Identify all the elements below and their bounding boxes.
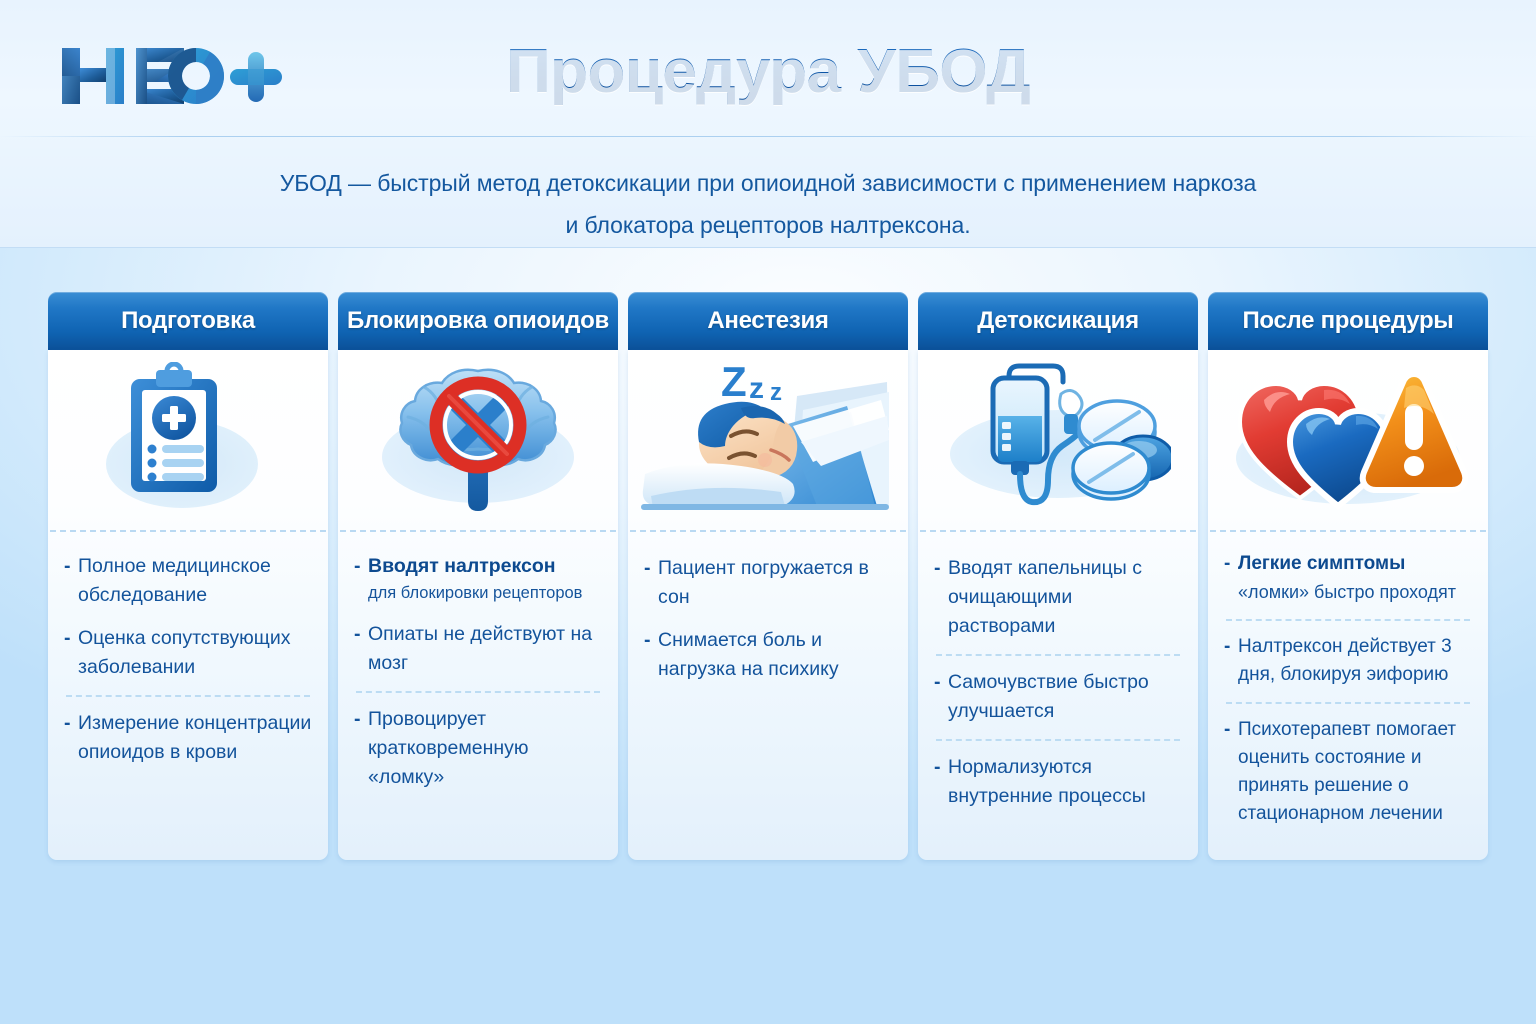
- sleeping-patient-icon: Z z z: [637, 356, 899, 524]
- bullet-item: - Легкие симптомы «ломки» быстро проходя…: [1224, 550, 1474, 606]
- page-title-text: Процедура УБОД: [506, 37, 1030, 106]
- step-card-title: После процедуры: [1242, 307, 1453, 335]
- page-title: Процедура УБОД: [0, 36, 1536, 107]
- bullet-dash: -: [64, 552, 78, 610]
- bullet-text: Психотерапевт помогает оценить состояние…: [1238, 716, 1474, 828]
- step-card-body: - Легкие симптомы «ломки» быстро проходя…: [1208, 350, 1488, 860]
- bullet-divider: [936, 739, 1180, 741]
- page-subtitle-line-2: и блокатора рецепторов налтрексона.: [0, 204, 1536, 246]
- step-card-header: Блокировка опиоидов: [338, 292, 618, 350]
- bullet-dash: -: [64, 709, 78, 767]
- bullet-item: - Пациент погружается в сон: [644, 554, 894, 612]
- bullet-divider: [356, 691, 600, 693]
- bullet-item: - Вводят капельницы с очищающими раствор…: [934, 554, 1184, 641]
- bullet-item: - Нормализуются внутренние процессы: [934, 753, 1184, 811]
- step-card-body: Z z z: [628, 350, 908, 860]
- zzz-label: Z: [721, 358, 747, 405]
- step-bullet-list: - Пациент погружается в сон - Снимается …: [628, 532, 908, 860]
- bullet-divider: [1226, 619, 1470, 621]
- svg-text:z: z: [749, 372, 764, 405]
- step-icon-area: [338, 350, 618, 530]
- bullet-dash: -: [934, 753, 948, 811]
- bullet-item: - Налтрексон действует 3 дня, блокируя э…: [1224, 633, 1474, 689]
- bullet-divider: [936, 654, 1180, 656]
- bullet-text: Снимается боль и нагрузка на психику: [658, 626, 894, 684]
- step-card-header: Анестезия: [628, 292, 908, 350]
- svg-text:z: z: [770, 379, 782, 406]
- step-card-title: Блокировка опиоидов: [347, 307, 609, 335]
- step-card-body: - Полное медицинское обследование - Оцен…: [48, 350, 328, 860]
- bullet-text: Пациент погружается в сон: [658, 554, 894, 612]
- bullet-dash: -: [934, 554, 948, 641]
- step-bullet-list: - Легкие симптомы «ломки» быстро проходя…: [1208, 532, 1488, 860]
- brain-blocked-icon: [372, 365, 584, 515]
- bullet-text: Оценка сопутствующих заболевании: [78, 624, 314, 682]
- step-icon-area: [48, 350, 328, 530]
- bullet-divider: [66, 695, 310, 697]
- bullet-item: - Психотерапевт помогает оценить состоян…: [1224, 716, 1474, 828]
- step-bullet-list: - Полное медицинское обследование - Оцен…: [48, 532, 328, 860]
- bullet-text: Полное медицинское обследование: [78, 552, 314, 610]
- bullet-text: Измерение концентрации опиоидов в крови: [78, 709, 314, 767]
- bullet-dash: -: [1224, 633, 1238, 689]
- step-card-title: Анестезия: [707, 307, 828, 335]
- bullet-text: Вводят капельницы с очищающими растворам…: [948, 554, 1184, 641]
- bullet-text: Легкие симптомы «ломки» быстро проходят: [1238, 550, 1474, 606]
- bullet-subtext: «ломки» быстро проходят: [1238, 578, 1474, 606]
- bullet-item: - Вводят налтрексон для блокировки рецеп…: [354, 552, 604, 606]
- bullet-dash: -: [934, 668, 948, 726]
- step-card-header: Детоксикация: [918, 292, 1198, 350]
- bullet-item: - Самочувствие быстро улучшается: [934, 668, 1184, 726]
- bullet-text: Провоцирует кратковременную «ломку»: [368, 705, 604, 792]
- bullet-item: - Полное медицинское обследование: [64, 552, 314, 610]
- step-card-body: - Вводят налтрексон для блокировки рецеп…: [338, 350, 618, 860]
- bullet-text: Вводят налтрексон для блокировки рецепто…: [368, 552, 604, 606]
- step-bullet-list: - Вводят налтрексон для блокировки рецеп…: [338, 532, 618, 860]
- bullet-item: - Опиаты не действуют на мозг: [354, 620, 604, 678]
- bullet-text: Нормализуются внутренние процессы: [948, 753, 1184, 811]
- bullet-item: - Снимается боль и нагрузка на психику: [644, 626, 894, 684]
- bullet-dash: -: [354, 620, 368, 678]
- bullet-dash: -: [354, 552, 368, 606]
- step-card-title: Детоксикация: [977, 307, 1139, 335]
- bullet-dash: -: [1224, 550, 1238, 606]
- page-subtitle-line-1: УБОД — быстрый метод детоксикации при оп…: [0, 162, 1536, 204]
- bullet-text: Самочувствие быстро улучшается: [948, 668, 1184, 726]
- bullet-text: Налтрексон действует 3 дня, блокируя эиф…: [1238, 633, 1474, 689]
- hearts-warning-icon: [1228, 366, 1468, 514]
- bullet-item: - Измерение концентрации опиоидов в кров…: [64, 709, 314, 767]
- bullet-divider: [1226, 702, 1470, 704]
- step-card-posle-procedury[interactable]: После процедуры: [1208, 292, 1488, 860]
- bullet-subtext: для блокировки рецепторов: [368, 581, 604, 606]
- step-card-blokirovka[interactable]: Блокировка опиоидов: [338, 292, 618, 860]
- bullet-dash: -: [64, 624, 78, 682]
- header-band: Процедура УБОД УБОД — быстрый метод дето…: [0, 0, 1536, 248]
- bullet-text-strong: Легкие симптомы: [1238, 553, 1405, 574]
- iv-drip-pills-icon: [945, 362, 1171, 518]
- bullet-dash: -: [1224, 716, 1238, 828]
- step-card-body: - Вводят капельницы с очищающими раствор…: [918, 350, 1198, 860]
- bullet-dash: -: [354, 705, 368, 792]
- step-bullet-list: - Вводят капельницы с очищающими раствор…: [918, 532, 1198, 860]
- step-card-header: После процедуры: [1208, 292, 1488, 350]
- step-card-podgotovka[interactable]: Подготовка: [48, 292, 328, 860]
- step-icon-area: Z z z: [628, 350, 908, 530]
- step-icon-area: [1208, 350, 1488, 530]
- step-card-detoksikaciya[interactable]: Детоксикация: [918, 292, 1198, 860]
- procedure-steps-row: Подготовка: [48, 292, 1488, 860]
- page-subtitle: УБОД — быстрый метод детоксикации при оп…: [0, 162, 1536, 246]
- clipboard-medical-icon: [102, 362, 274, 518]
- step-icon-area: [918, 350, 1198, 530]
- bullet-dash: -: [644, 554, 658, 612]
- bullet-text: Опиаты не действуют на мозг: [368, 620, 604, 678]
- bullet-dash: -: [644, 626, 658, 684]
- bullet-text-strong: Вводят налтрексон: [368, 555, 556, 577]
- step-card-header: Подготовка: [48, 292, 328, 350]
- bullet-item: - Провоцирует кратковременную «ломку»: [354, 705, 604, 792]
- step-card-anesteziya[interactable]: Анестезия: [628, 292, 908, 860]
- header-divider-rule: [0, 136, 1536, 137]
- bullet-item: - Оценка сопутствующих заболевании: [64, 624, 314, 682]
- step-card-title: Подготовка: [121, 307, 255, 335]
